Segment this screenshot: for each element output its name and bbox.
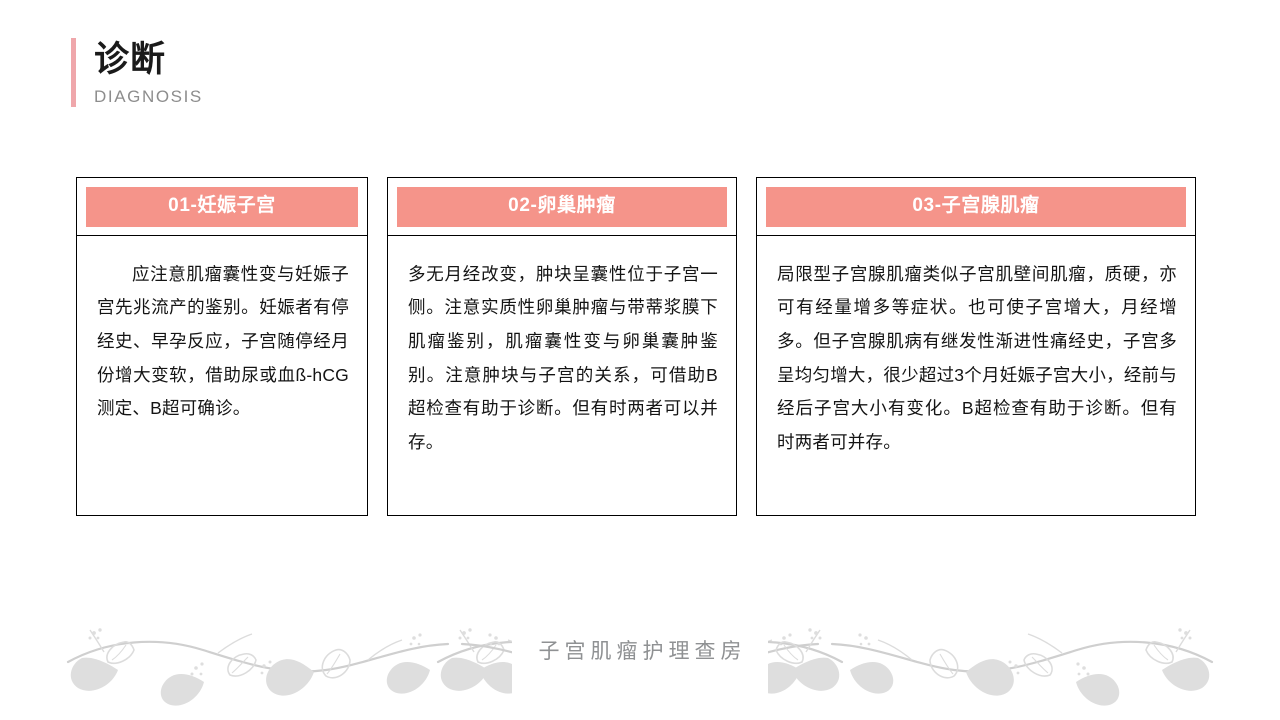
- diagnosis-card-1: 01-妊娠子宫 应注意肌瘤囊性变与妊娠子宫先兆流产的鉴别。妊娠者有停经史、早孕反…: [76, 177, 368, 516]
- card-3-header-area: 03-子宫腺肌瘤: [757, 178, 1195, 236]
- card-2-text: 多无月经改变，肿块呈囊性位于子宫一侧。注意实质性卵巢肿瘤与带蒂浆膜下肌瘤鉴别，肌…: [408, 258, 718, 460]
- card-1-text: 应注意肌瘤囊性变与妊娠子宫先兆流产的鉴别。妊娠者有停经史、早孕反应，子宫随停经月…: [97, 258, 349, 426]
- page-title: 诊断: [94, 40, 203, 81]
- vine-ornament-icon: [0, 610, 1280, 720]
- card-1-header-area: 01-妊娠子宫: [77, 178, 367, 236]
- diagnosis-cards-row: 01-妊娠子宫 应注意肌瘤囊性变与妊娠子宫先兆流产的鉴别。妊娠者有停经史、早孕反…: [76, 177, 1196, 516]
- card-2-body: 多无月经改变，肿块呈囊性位于子宫一侧。注意实质性卵巢肿瘤与带蒂浆膜下肌瘤鉴别，肌…: [388, 236, 736, 515]
- card-3-text: 局限型子宫腺肌瘤类似子宫肌壁间肌瘤，质硬，亦可有经量增多等症状。也可使子宫增大，…: [777, 258, 1177, 460]
- page-header: 诊断 DIAGNOSIS: [71, 38, 203, 107]
- diagnosis-card-3: 03-子宫腺肌瘤 局限型子宫腺肌瘤类似子宫肌壁间肌瘤，质硬，亦可有经量增多等症状…: [756, 177, 1196, 516]
- card-1-body: 应注意肌瘤囊性变与妊娠子宫先兆流产的鉴别。妊娠者有停经史、早孕反应，子宫随停经月…: [77, 236, 367, 515]
- card-3-title: 03-子宫腺肌瘤: [766, 187, 1186, 227]
- diagnosis-card-2: 02-卵巢肿瘤 多无月经改变，肿块呈囊性位于子宫一侧。注意实质性卵巢肿瘤与带蒂浆…: [387, 177, 737, 516]
- card-3-body: 局限型子宫腺肌瘤类似子宫肌壁间肌瘤，质硬，亦可有经量增多等症状。也可使子宫增大，…: [757, 236, 1195, 515]
- title-text-group: 诊断 DIAGNOSIS: [94, 38, 203, 107]
- card-1-title: 01-妊娠子宫: [86, 187, 358, 227]
- card-2-header-area: 02-卵巢肿瘤: [388, 178, 736, 236]
- slide-footer: 子宫肌瘤护理查房: [0, 610, 1280, 720]
- footer-title: 子宫肌瘤护理查房: [0, 635, 1280, 665]
- card-2-title: 02-卵巢肿瘤: [397, 187, 727, 227]
- page-subtitle: DIAGNOSIS: [94, 87, 203, 107]
- title-accent-bar: [71, 38, 76, 107]
